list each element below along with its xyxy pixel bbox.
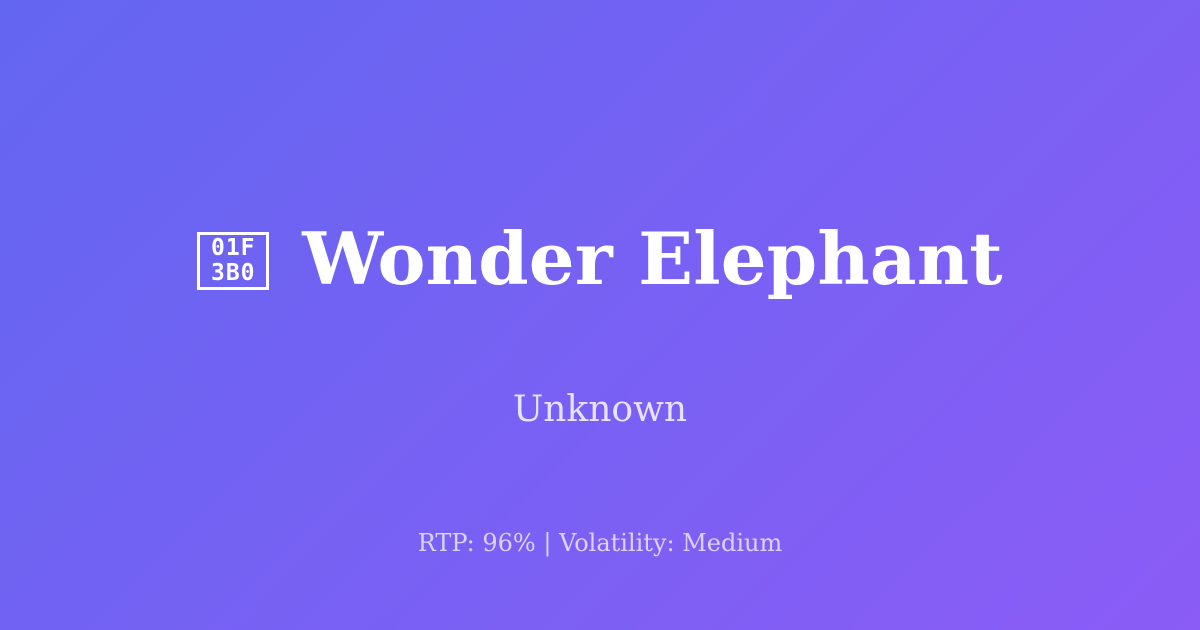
page-title: Wonder Elephant: [302, 221, 1003, 297]
game-preview-card: 01F 3B0 Wonder Elephant Unknown RTP: 96%…: [0, 0, 1200, 630]
slot-machine-icon: 01F 3B0: [197, 232, 269, 290]
hero-block: 01F 3B0 Wonder Elephant Unknown: [0, 173, 1200, 431]
game-stats-line: RTP: 96% | Volatility: Medium: [0, 529, 1200, 558]
game-provider-subtitle: Unknown: [513, 388, 687, 431]
title-row: 01F 3B0 Wonder Elephant: [197, 173, 1003, 346]
notdef-codepoint-top: 01F: [211, 236, 256, 261]
notdef-codepoint-bottom: 3B0: [211, 261, 256, 286]
